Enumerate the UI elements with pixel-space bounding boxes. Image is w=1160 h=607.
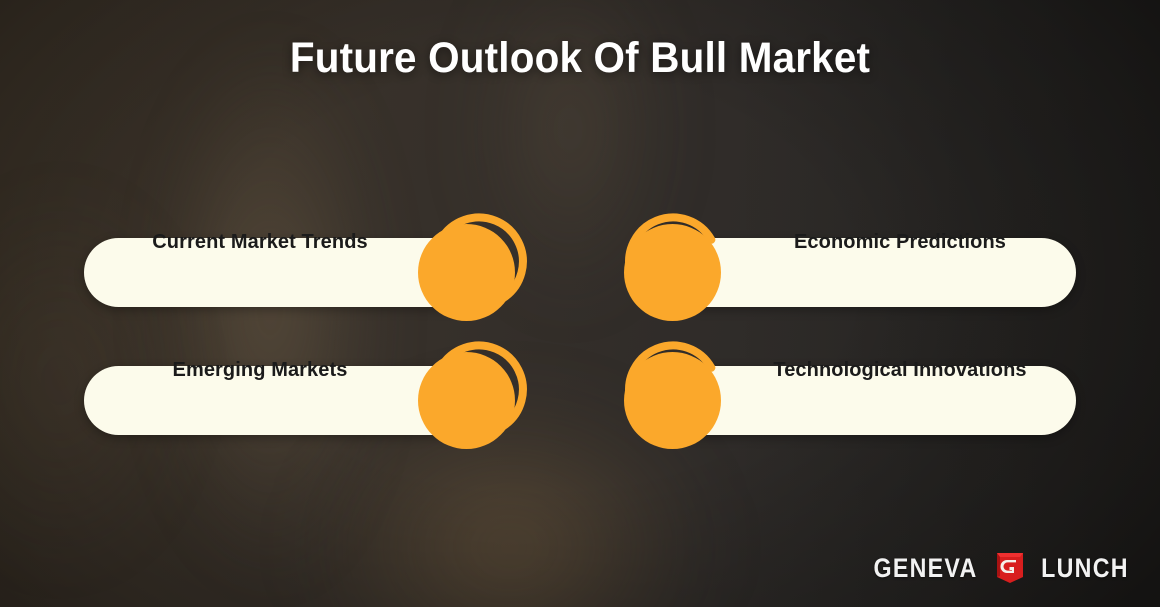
infographic-canvas: Future Outlook Of Bull Market Current Ma… — [0, 0, 1160, 607]
orange-circle-icon — [418, 352, 515, 449]
item-label: Technological Innovations — [740, 336, 1060, 405]
geneva-lunch-g-badge-icon — [994, 551, 1026, 585]
item-label: Emerging Markets — [100, 336, 420, 405]
item-label: Economic Predictions — [740, 208, 1060, 277]
item-technological-innovations[interactable]: Technological Innovations — [610, 336, 1090, 456]
item-label: Current Market Trends — [100, 208, 420, 277]
brand-logo[interactable]: GENEVA LUNCH — [865, 551, 1136, 585]
orange-circle-icon — [624, 352, 721, 449]
item-emerging-markets[interactable]: Emerging Markets — [70, 336, 550, 456]
item-current-market-trends[interactable]: Current Market Trends — [70, 208, 550, 328]
orange-circle-icon — [624, 224, 721, 321]
page-title: Future Outlook Of Bull Market — [35, 34, 1125, 83]
logo-word-lunch: LUNCH — [1041, 553, 1129, 584]
logo-word-geneva: GENEVA — [873, 553, 977, 584]
orange-circle-icon — [418, 224, 515, 321]
item-economic-predictions[interactable]: Economic Predictions — [610, 208, 1090, 328]
